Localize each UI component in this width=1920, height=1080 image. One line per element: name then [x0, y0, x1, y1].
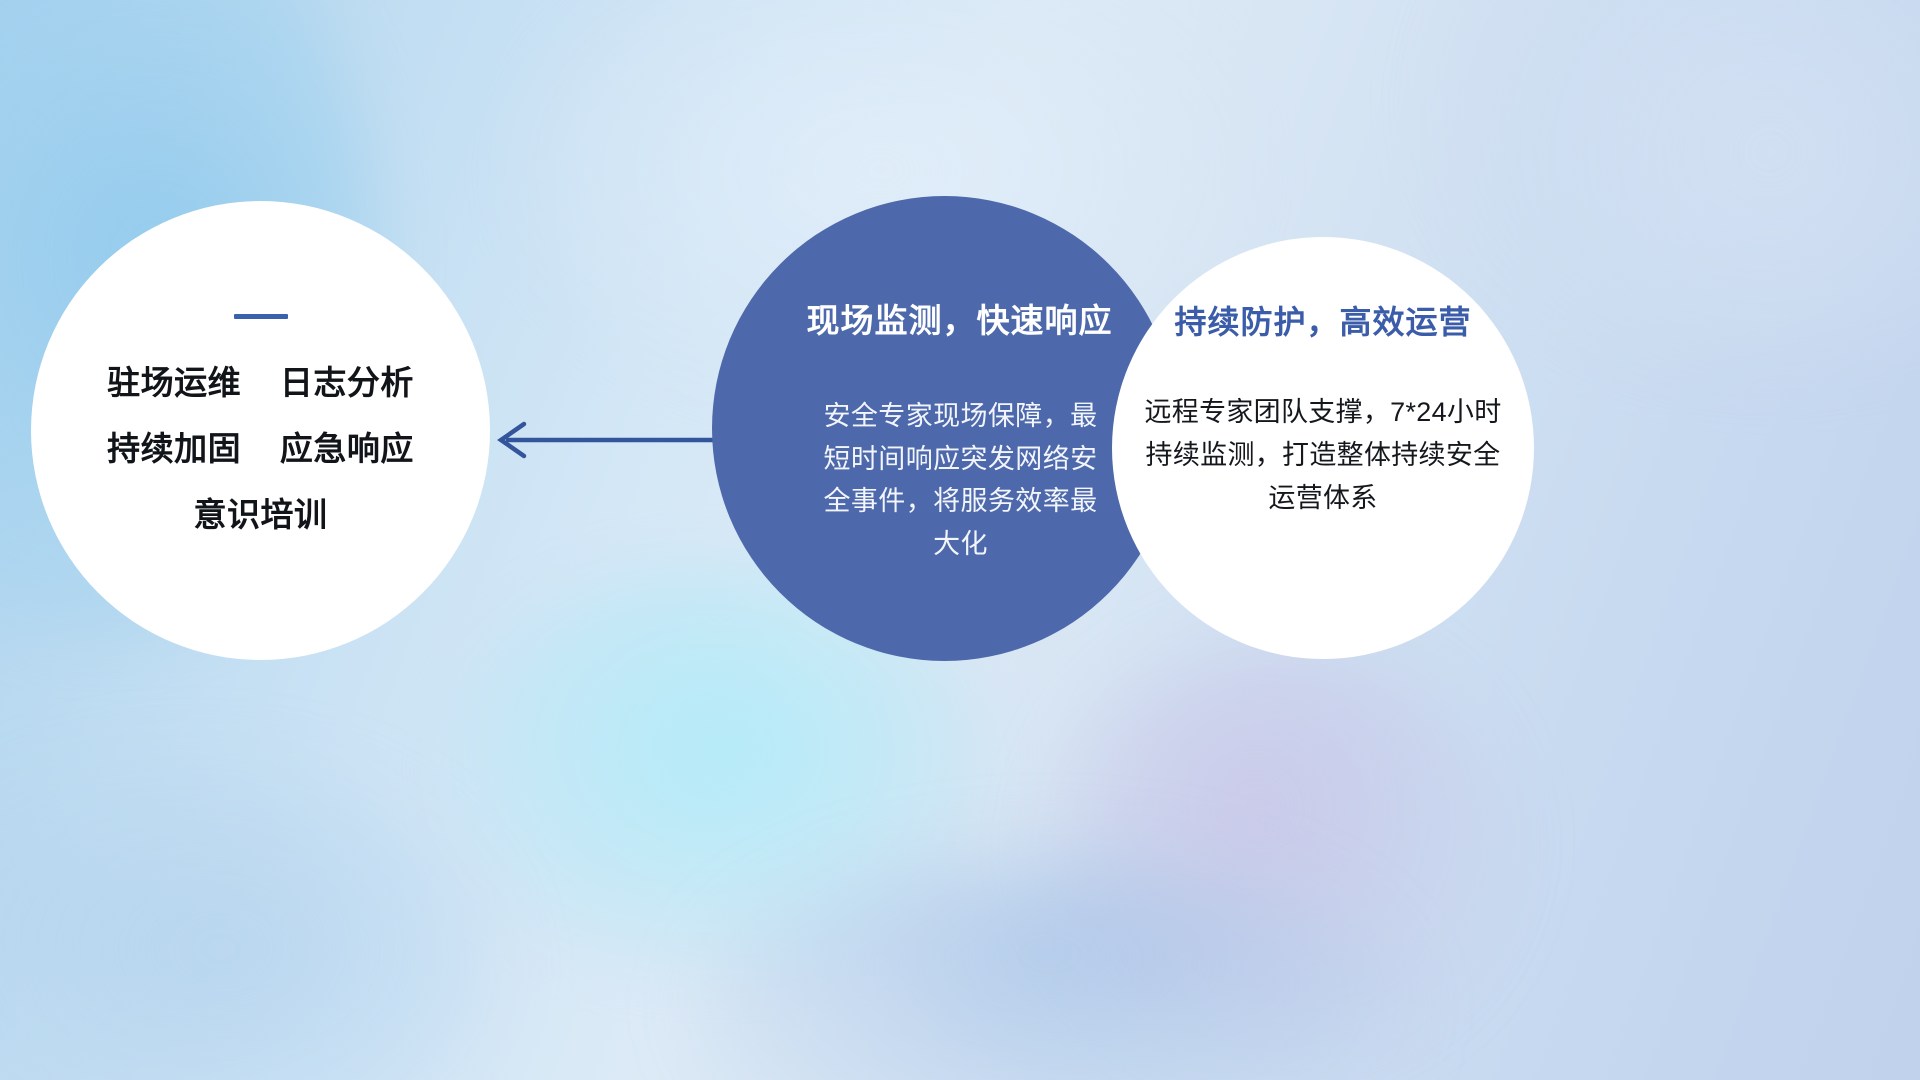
onsite-monitoring-circle[interactable]: 现场监测，快速响应 安全专家现场保障，最短时间响应突发网络安全事件，将服务效率最…: [712, 196, 1177, 661]
continuous-protection-circle[interactable]: 持续防护，高效运营 远程专家团队支撑，7*24小时持续监测，打造整体持续安全运营…: [1112, 237, 1534, 659]
capability-line-2: 持续加固 应急响应: [107, 432, 414, 465]
continuous-protection-title: 持续防护，高效运营: [1174, 297, 1471, 343]
onsite-monitoring-body: 安全专家现场保障，最短时间响应突发网络安全事件，将服务效率最大化: [816, 395, 1106, 566]
onsite-monitoring-title: 现场监测，快速响应: [807, 294, 1113, 342]
accent-dash-icon: [234, 314, 288, 319]
connector-arrow-icon: [488, 418, 720, 462]
capability-line-3: 意识培训: [194, 498, 328, 531]
diagram-stage: 驻场运维 日志分析 持续加固 应急响应 意识培训 现场监测，快速响应 安全专家现…: [0, 0, 1920, 1080]
capability-line-1: 驻场运维 日志分析: [107, 366, 414, 399]
capabilities-circle[interactable]: 驻场运维 日志分析 持续加固 应急响应 意识培训: [31, 201, 490, 660]
continuous-protection-body: 远程专家团队支撑，7*24小时持续监测，打造整体持续安全运营体系: [1137, 391, 1509, 521]
